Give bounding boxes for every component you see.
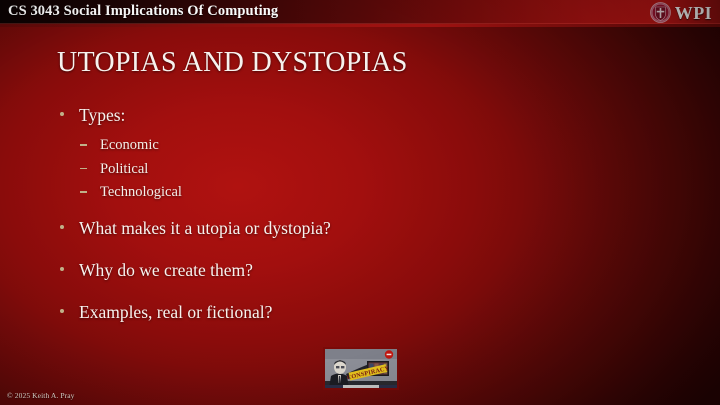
video-thumbnail[interactable]: CONSPIRACY: [323, 347, 399, 390]
bullet-text: What makes it a utopia or dystopia?: [79, 218, 331, 238]
dash-marker-icon: [80, 144, 87, 146]
copyright-footer: © 2025 Keith A. Pray: [7, 391, 75, 400]
spacer: [57, 290, 657, 301]
bullet-text: Examples, real or fictional?: [79, 302, 272, 322]
header-underline: [0, 24, 720, 27]
sub-bullet-text: Economic: [100, 137, 159, 153]
wpi-seal-icon: [650, 2, 671, 23]
bullet-text: Types:: [79, 105, 125, 125]
wpi-wordmark: WPI: [675, 4, 712, 22]
slide-canvas: CS 3043 Social Implications Of Computing…: [0, 0, 720, 405]
bullet-item: What makes it a utopia or dystopia?: [57, 217, 657, 240]
bullet-item: Why do we create them?: [57, 259, 657, 282]
bullet-item: Examples, real or fictional?: [57, 301, 657, 324]
sub-bullet-item: Technological: [57, 182, 657, 203]
sub-bullet-item: Political: [57, 159, 657, 180]
bullet-marker-icon: [60, 225, 64, 229]
bullet-text: Why do we create them?: [79, 260, 253, 280]
spacer: [57, 248, 657, 259]
sub-bullet-text: Political: [100, 161, 148, 177]
spacer: [57, 206, 657, 217]
dash-marker-icon: [80, 168, 87, 170]
bullet-marker-icon: [60, 112, 64, 116]
slide-title: UTOPIAS AND DYSTOPIAS: [57, 47, 408, 79]
bullet-marker-icon: [60, 309, 64, 313]
bullet-item: Types:: [57, 104, 657, 127]
dash-marker-icon: [80, 191, 87, 193]
wpi-logo: WPI: [650, 1, 712, 24]
course-title: CS 3043 Social Implications Of Computing: [8, 3, 278, 20]
sub-bullet-text: Technological: [100, 184, 182, 200]
sub-bullet-item: Economic: [57, 135, 657, 156]
bullet-marker-icon: [60, 267, 64, 271]
video-thumbnail-image: CONSPIRACY: [325, 349, 397, 388]
slide-body: Types: Economic Political Technological …: [57, 104, 657, 332]
